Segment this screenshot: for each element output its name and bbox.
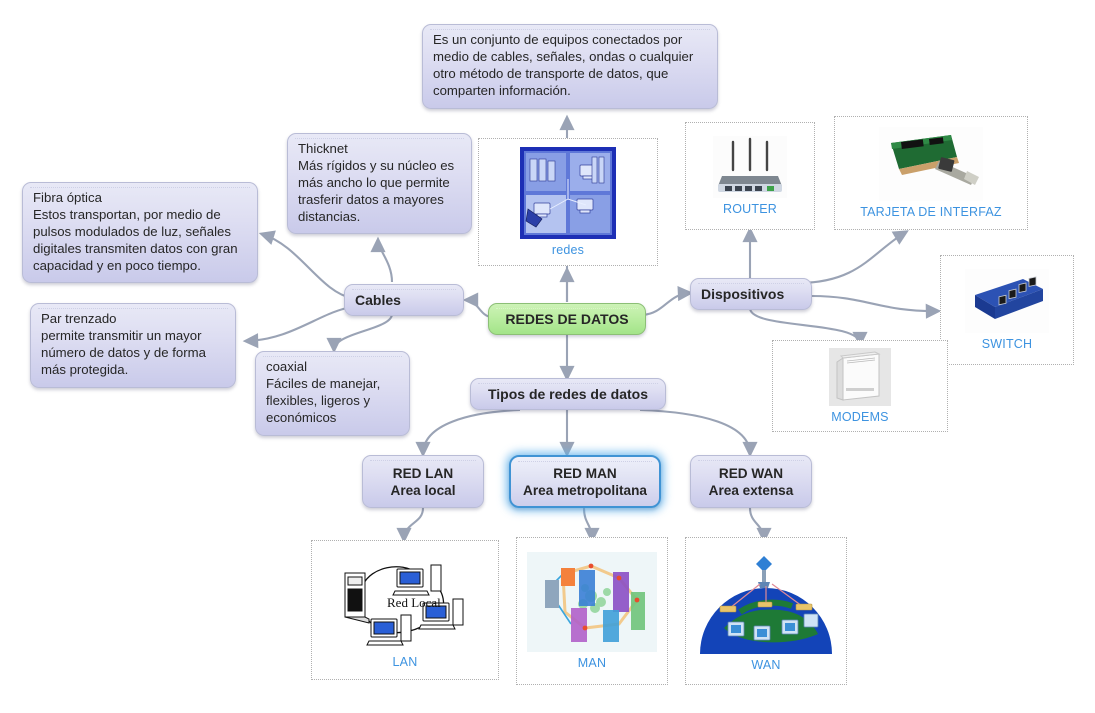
modems-caption: MODEMS [831,410,888,424]
link-cables-coaxial [334,314,392,350]
man-thumbnail [527,552,657,652]
node-red-wan[interactable]: RED WAN Area extensa [690,455,812,508]
link-tipos-wan [640,410,750,454]
switch-thumbnail [965,269,1049,333]
picture-man[interactable]: MAN [516,537,668,685]
red-man-name: RED MAN [521,465,649,482]
nic-caption: TARJETA DE INTERFAZ [860,205,1002,219]
redes-caption: redes [552,243,584,257]
picture-lan[interactable]: Red Local LAN [311,540,499,680]
node-dispositivos[interactable]: Dispositivos [690,278,812,310]
redes-thumbnail [520,147,616,239]
link-tipos-lan [423,410,520,454]
man-caption: MAN [578,656,606,670]
tipos-label: Tipos de redes de datos [471,379,665,412]
router-caption: ROUTER [723,202,777,216]
node-red-man[interactable]: RED MAN Area metropolitana [509,455,661,508]
node-par-trenzado[interactable]: Par trenzado permite transmitir un mayor… [30,303,236,388]
picture-wan[interactable]: WAN [685,537,847,685]
node-cables[interactable]: Cables [344,284,464,316]
link-wan-picture [750,508,764,540]
dispositivos-label: Dispositivos [691,279,811,312]
link-cables-partrenzado [246,307,352,341]
lan-thumbnail: Red Local [335,551,475,651]
link-dispositivos-modems [750,308,860,344]
node-central-redes-de-datos[interactable]: REDES DE DATOS [488,303,646,335]
node-tipos-de-redes[interactable]: Tipos de redes de datos [470,378,666,410]
lan-caption: LAN [393,655,418,669]
lan-inner-label: Red Local [387,595,441,610]
node-coaxial[interactable]: coaxial Fáciles de manejar, flexibles, l… [255,351,410,436]
mindmap-canvas: Es un conjunto de equipos conectados por… [0,0,1095,713]
par-trenzado-title: Par trenzado [41,311,225,328]
link-dispositivos-switch [812,296,938,311]
red-wan-area: Area extensa [701,482,801,499]
link-dispositivos-nic [800,232,906,283]
fibra-title: Fibra óptica [33,190,247,207]
picture-network-interface-card[interactable]: TARJETA DE INTERFAZ [834,116,1028,230]
red-lan-area: Area local [373,482,473,499]
cables-label: Cables [345,285,463,318]
par-trenzado-desc: permite transmitir un mayor número de da… [41,328,206,377]
wan-caption: WAN [751,658,780,672]
red-lan-name: RED LAN [373,465,473,482]
modems-thumbnail [829,348,891,406]
node-fibra-optica[interactable]: Fibra óptica Estos transportan, por medi… [22,182,258,283]
router-thumbnail [713,136,787,198]
wan-thumbnail [696,550,836,654]
thicknet-title: Thicknet [298,141,461,158]
red-man-area: Area metropolitana [521,482,649,499]
picture-redes[interactable]: redes [478,138,658,266]
central-label: REDES DE DATOS [489,304,645,337]
coaxial-desc: Fáciles de manejar, flexibles, ligeros y… [266,376,380,425]
picture-router[interactable]: ROUTER [685,122,815,230]
node-red-lan[interactable]: RED LAN Area local [362,455,484,508]
link-cables-thicknet [378,240,392,282]
node-definition[interactable]: Es un conjunto de equipos conectados por… [422,24,718,109]
fibra-desc: Estos transportan, por medio de pulsos m… [33,207,238,273]
link-central-dispositivos [643,293,690,315]
definition-text: Es un conjunto de equipos conectados por… [423,25,717,108]
thicknet-desc: Más rígidos y su núcleo es más ancho lo … [298,158,454,224]
picture-modems[interactable]: MODEMS [772,340,948,432]
red-wan-name: RED WAN [701,465,801,482]
link-man-picture [584,508,592,540]
nic-thumbnail [879,127,983,201]
link-lan-picture [404,508,423,540]
link-cables-fibra [262,234,352,298]
node-thicknet[interactable]: Thicknet Más rígidos y su núcleo es más … [287,133,472,234]
coaxial-title: coaxial [266,359,399,376]
switch-caption: SWITCH [982,337,1033,351]
picture-switch[interactable]: SWITCH [940,255,1074,365]
